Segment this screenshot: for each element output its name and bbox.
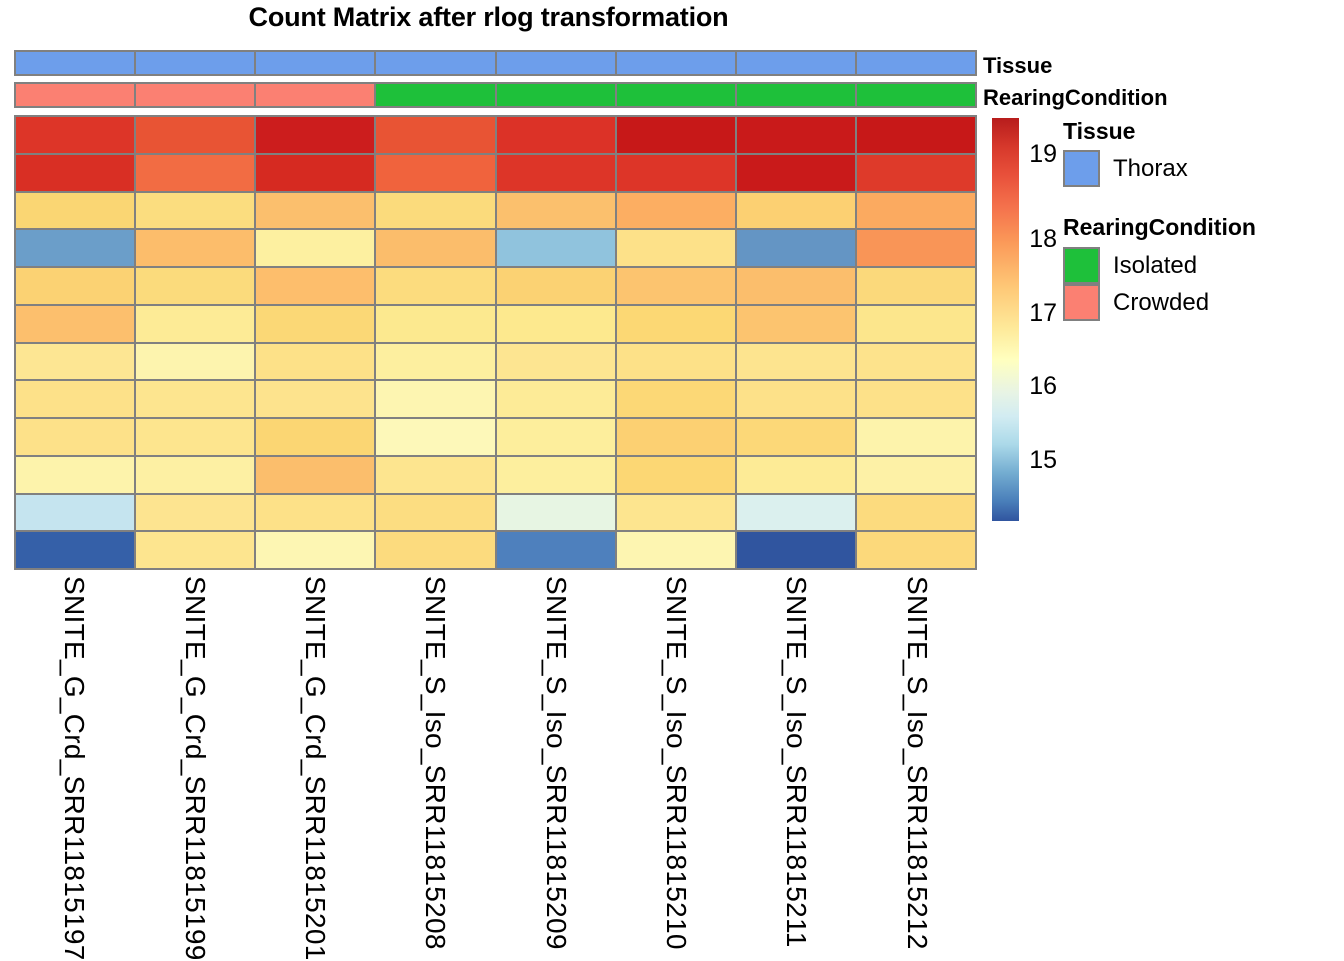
tissue-annotation-label: Tissue [983, 53, 1052, 79]
heatmap-cell [495, 153, 617, 193]
heatmap-cell [374, 191, 496, 231]
colorbar-tick-label: 16 [1023, 372, 1057, 401]
heatmap-cell [495, 455, 617, 495]
column-label-slot: SNITE_S_Iso_SRR11815210 [616, 572, 736, 960]
column-label: SNITE_S_Iso_SRR11815211 [780, 576, 812, 948]
heatmap-cell [134, 342, 256, 382]
column-label: SNITE_S_Iso_SRR11815208 [419, 576, 451, 950]
colorbar-tick-label: 18 [1023, 225, 1057, 254]
heatmap-cell [615, 455, 737, 495]
rearing-condition-annotation-cell [495, 82, 617, 108]
heatmap-cell [495, 493, 617, 533]
heatmap-cell [495, 342, 617, 382]
rearing-condition-annotation-cell [254, 82, 376, 108]
tissue-annotation-cell [374, 50, 496, 76]
heatmap-cell [735, 342, 857, 382]
column-label: SNITE_S_Iso_SRR11815209 [540, 576, 572, 950]
heatmap-cell [735, 115, 857, 155]
column-label-axis: SNITE_G_Crd_SRR11815197SNITE_G_Crd_SRR11… [14, 572, 977, 960]
column-label: SNITE_G_Crd_SRR11815197 [58, 576, 90, 961]
heatmap-cell [735, 228, 857, 268]
heatmap-row [14, 153, 977, 193]
tissue-annotation-cell [254, 50, 376, 76]
tissue-legend-title: Tissue [1063, 118, 1135, 145]
legend-item-isolated[interactable]: Isolated [1063, 247, 1197, 284]
rearing-condition-annotation-cell [14, 82, 136, 108]
legend-swatch-crowded [1063, 284, 1100, 321]
heatmap-row [14, 115, 977, 155]
colorbar-tick-label: 19 [1023, 140, 1057, 169]
heatmap-cell [14, 304, 136, 344]
heatmap-row [14, 342, 977, 382]
heatmap-cell [134, 304, 256, 344]
heatmap-cell [495, 530, 617, 570]
heatmap-row [14, 304, 977, 344]
heatmap-cell [134, 493, 256, 533]
heatmap-cell [855, 530, 977, 570]
heatmap-cell [615, 379, 737, 419]
heatmap-cell [14, 417, 136, 457]
heatmap-cell [855, 228, 977, 268]
heatmap-cell [495, 228, 617, 268]
heatmap-cell [254, 115, 376, 155]
heatmap-cell [134, 379, 256, 419]
heatmap-cell [14, 153, 136, 193]
heatmap-cell [735, 455, 857, 495]
heatmap-cell [855, 304, 977, 344]
heatmap-cell [615, 530, 737, 570]
tissue-annotation-row [14, 50, 977, 76]
column-label-slot: SNITE_S_Iso_SRR11815208 [375, 572, 495, 960]
heatmap-cell [134, 228, 256, 268]
heatmap-cell [254, 493, 376, 533]
heatmap-cell [855, 266, 977, 306]
heatmap-cell [374, 228, 496, 268]
legend-label-crowded: Crowded [1113, 289, 1209, 317]
heatmap-cell [855, 417, 977, 457]
heatmap-cell [374, 530, 496, 570]
tissue-annotation-cell [134, 50, 256, 76]
heatmap-cell [134, 266, 256, 306]
heatmap-cell [374, 342, 496, 382]
rearing-condition-legend-title: RearingCondition [1063, 214, 1256, 241]
heatmap-cell [615, 266, 737, 306]
heatmap-cell [855, 455, 977, 495]
heatmap-row [14, 493, 977, 533]
heatmap-cell [615, 304, 737, 344]
heatmap-cell [615, 342, 737, 382]
column-label-slot: SNITE_S_Iso_SRR11815209 [496, 572, 616, 960]
heatmap-cell [374, 304, 496, 344]
heatmap-cell [14, 115, 136, 155]
rearing-condition-annotation-label: RearingCondition [983, 85, 1168, 111]
heatmap-row [14, 379, 977, 419]
heatmap-cell [735, 530, 857, 570]
legend-item-thorax[interactable]: Thorax [1063, 150, 1188, 187]
heatmap-cell [134, 153, 256, 193]
heatmap-cell [254, 304, 376, 344]
column-label-slot: SNITE_S_Iso_SRR11815212 [857, 572, 977, 960]
heatmap-cell [615, 493, 737, 533]
heatmap-row [14, 417, 977, 457]
heatmap-cell [495, 115, 617, 155]
heatmap-cell [254, 455, 376, 495]
heatmap-cell [14, 342, 136, 382]
heatmap-cell [855, 153, 977, 193]
heatmap-cell [14, 228, 136, 268]
column-label: SNITE_G_Crd_SRR11815199 [179, 576, 211, 961]
rearing-condition-annotation-cell [855, 82, 977, 108]
heatmap-cell [14, 530, 136, 570]
heatmap-cell [254, 379, 376, 419]
tissue-annotation-cell [615, 50, 737, 76]
heatmap-cell [735, 417, 857, 457]
heatmap-cell [735, 493, 857, 533]
heatmap-cell [254, 530, 376, 570]
rearing-condition-annotation-row [14, 82, 977, 108]
heatmap-cell [14, 455, 136, 495]
page-title: Count Matrix after rlog transformation [0, 2, 977, 33]
heatmap-cell [134, 455, 256, 495]
colorbar-tick-label: 17 [1023, 299, 1057, 328]
rearing-condition-annotation-cell [735, 82, 857, 108]
rearing-condition-annotation-cell [134, 82, 256, 108]
colorbar-tick-label: 15 [1023, 446, 1057, 475]
heatmap-cell [374, 493, 496, 533]
heatmap-cell [855, 493, 977, 533]
heatmap-row [14, 191, 977, 231]
heatmap-cell [14, 266, 136, 306]
heatmap-cell [855, 191, 977, 231]
legend-label-isolated: Isolated [1113, 252, 1197, 280]
heatmap-cell [855, 115, 977, 155]
column-label-slot: SNITE_G_Crd_SRR11815201 [255, 572, 375, 960]
legend-label-thorax: Thorax [1113, 155, 1188, 183]
heatmap-cell [374, 115, 496, 155]
heatmap-cell [615, 191, 737, 231]
column-label-slot: SNITE_G_Crd_SRR11815197 [14, 572, 134, 960]
column-label: SNITE_S_Iso_SRR11815212 [901, 576, 933, 950]
heatmap-cell [374, 417, 496, 457]
heatmap-cell [495, 191, 617, 231]
heatmap-cell [254, 228, 376, 268]
heatmap-cell [374, 153, 496, 193]
heatmap-cell [134, 191, 256, 231]
heatmap-cell [495, 266, 617, 306]
heatmap-cell [495, 417, 617, 457]
heatmap-cell [615, 417, 737, 457]
column-label-slot: SNITE_S_Iso_SRR11815211 [736, 572, 856, 960]
heatmap-cell [855, 379, 977, 419]
heatmap-cell [615, 228, 737, 268]
colorbar [992, 118, 1019, 521]
heatmap-cell [254, 266, 376, 306]
column-label: SNITE_S_Iso_SRR11815210 [660, 576, 692, 950]
rearing-condition-annotation-cell [615, 82, 737, 108]
heatmap-cell [735, 304, 857, 344]
heatmap-cell [615, 115, 737, 155]
heatmap-cell [855, 342, 977, 382]
heatmap-cell [735, 266, 857, 306]
heatmap-cell [254, 191, 376, 231]
legend-swatch-isolated [1063, 247, 1100, 284]
legend-item-crowded[interactable]: Crowded [1063, 284, 1209, 321]
heatmap-row [14, 455, 977, 495]
heatmap-cell [374, 379, 496, 419]
heatmap-cell [14, 379, 136, 419]
heatmap-matrix [14, 115, 977, 570]
legend-swatch-thorax [1063, 150, 1100, 187]
heatmap-cell [615, 153, 737, 193]
tissue-annotation-cell [495, 50, 617, 76]
heatmap-cell [254, 342, 376, 382]
heatmap-cell [134, 530, 256, 570]
heatmap-cell [735, 379, 857, 419]
heatmap-cell [254, 153, 376, 193]
colorbar-gradient [992, 118, 1019, 521]
heatmap-cell [735, 153, 857, 193]
heatmap-cell [14, 493, 136, 533]
column-label: SNITE_G_Crd_SRR11815201 [299, 576, 331, 961]
heatmap-row [14, 228, 977, 268]
heatmap-cell [254, 417, 376, 457]
heatmap-cell [495, 304, 617, 344]
tissue-annotation-cell [855, 50, 977, 76]
heatmap-cell [495, 379, 617, 419]
rearing-condition-annotation-cell [374, 82, 496, 108]
heatmap-cell [374, 266, 496, 306]
heatmap-cell [134, 417, 256, 457]
heatmap-cell [134, 115, 256, 155]
heatmap-row [14, 530, 977, 570]
tissue-annotation-cell [735, 50, 857, 76]
heatmap-row [14, 266, 977, 306]
tissue-annotation-cell [14, 50, 136, 76]
heatmap-cell [735, 191, 857, 231]
heatmap-cell [14, 191, 136, 231]
column-label-slot: SNITE_G_Crd_SRR11815199 [134, 572, 254, 960]
heatmap-cell [374, 455, 496, 495]
